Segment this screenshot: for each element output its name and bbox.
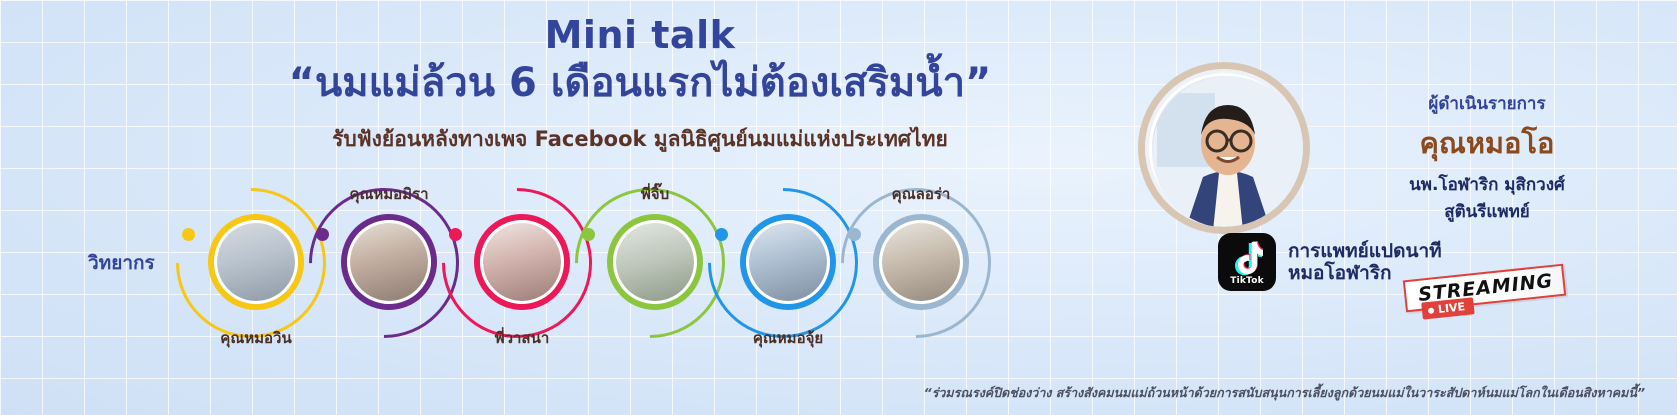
tiktok-channel-line1: การแพทย์แปดนาที	[1288, 240, 1442, 262]
host-role: ผู้ดำเนินรายการ	[1322, 90, 1652, 117]
title-block: Mini talk “นมแม่ล้วน 6 เดือนแรกไม่ต้องเส…	[190, 14, 1090, 156]
speakers-label: วิทยากร	[88, 248, 155, 278]
host-full-name: นพ.โอฬาริก มุสิกวงศ์	[1322, 171, 1652, 198]
speaker-avatar-ring	[613, 220, 697, 304]
speaker-avatar-ring	[214, 220, 298, 304]
speaker-avatar[interactable]	[341, 214, 437, 310]
tiktok-icon[interactable]: TikTok	[1218, 233, 1276, 291]
footer-note: “ร่วมรณรงค์ปิดช่องว่าง สร้างสังคมนมแม่ถ้…	[0, 383, 1663, 403]
live-dot-icon	[1428, 307, 1435, 314]
title-quote: “นมแม่ล้วน 6 เดือนแรกไม่ต้องเสริมน้ำ”	[190, 59, 1090, 107]
speaker-avatar[interactable]	[873, 214, 969, 310]
tiktok-channel-name: การแพทย์แปดนาที หมอโอฬาริก	[1288, 240, 1442, 285]
tiktok-note-glyph	[1231, 240, 1263, 276]
live-label: LIVE	[1437, 300, 1465, 316]
page-subtitle: รับฟังย้อนหลังทางเพจ Facebook มูลนิธิศูน…	[190, 123, 1090, 156]
speaker-avatar[interactable]	[474, 214, 570, 310]
page-title: Mini talk	[190, 14, 1090, 57]
event-banner: Mini talk “นมแม่ล้วน 6 เดือนแรกไม่ต้องเส…	[0, 0, 1677, 415]
speaker-name: คุณลอร่า	[831, 182, 1011, 206]
speaker-name: คุณหมอวิน	[166, 326, 346, 350]
speaker-avatar-ring	[879, 220, 963, 304]
speakers-timeline: วิทยากร คุณหมอวินคุณหมอมิราพี่วาสนาพี่จิ…	[0, 186, 1060, 356]
host-specialty: สูตินรีแพทย์	[1322, 198, 1652, 225]
speaker-avatar[interactable]	[740, 214, 836, 310]
speaker-avatar-ring	[746, 220, 830, 304]
speaker-avatar-ring	[347, 220, 431, 304]
tiktok-wordmark: TikTok	[1218, 276, 1276, 286]
host-info: ผู้ดำเนินรายการ คุณหมอโอ นพ.โอฬาริก มุสิ…	[1322, 90, 1652, 225]
speaker-connector-dot-start	[182, 228, 195, 241]
speaker-avatar[interactable]	[607, 214, 703, 310]
host-portrait-illustration	[1149, 73, 1307, 231]
speaker-avatar-ring	[480, 220, 564, 304]
speaker-name: คุณหมอจุ้ย	[698, 326, 878, 350]
speaker-avatar[interactable]	[208, 214, 304, 310]
host-nickname: คุณหมอโอ	[1322, 120, 1652, 166]
speaker-name: พี่จิ๊บ	[565, 182, 745, 206]
speaker-name: พี่วาสนา	[432, 326, 612, 350]
speaker-name: คุณหมอมิรา	[299, 182, 479, 206]
host-avatar	[1138, 62, 1310, 234]
